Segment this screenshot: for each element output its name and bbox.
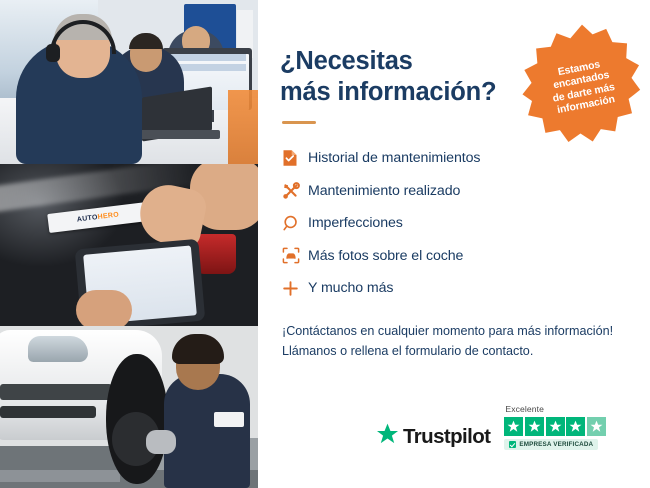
- title-underline-rule: [282, 121, 316, 124]
- feature-list: Historial de mantenimientos Mantenimient…: [282, 142, 626, 305]
- list-item-label: Historial de mantenimientos: [308, 150, 480, 166]
- document-check-icon: [282, 149, 308, 167]
- plus-icon: [282, 280, 308, 297]
- verified-check-icon: [509, 441, 516, 448]
- mechanic-glove: [146, 430, 176, 454]
- star-icon-partial: [587, 417, 606, 436]
- headline-line-1: ¿Necesitas: [280, 47, 413, 75]
- badge-text: Estamos encantados de darte más informac…: [527, 53, 638, 121]
- orange-equipment: [228, 90, 258, 164]
- verified-label: EMPRESA VERIFICADA: [519, 441, 593, 448]
- screen-content-bar: [168, 54, 246, 61]
- list-item-label: Y mucho más: [308, 280, 393, 296]
- mechanic-uniform-logo: [214, 412, 244, 427]
- photo-inspection-ruler-on-car: AUTOHERO: [0, 164, 258, 326]
- laptop-keyboard: [134, 130, 220, 139]
- trustpilot-wordmark: Trustpilot: [403, 425, 490, 449]
- headline-line-2: más información?: [280, 78, 496, 106]
- tools-wrench-screwdriver-icon: [282, 182, 308, 200]
- car-grille-lower: [0, 406, 96, 418]
- inspector-hand-holding-tablet: [76, 290, 132, 326]
- photo-mechanic-inspecting-wheel: [0, 326, 258, 488]
- trustpilot-star-icon: [376, 423, 399, 450]
- car-headlight: [28, 336, 88, 362]
- mechanic-torso: [164, 374, 250, 488]
- list-item-label: Más fotos sobre el coche: [308, 248, 463, 264]
- car-lift-arm: [0, 470, 120, 482]
- list-item: Imperfecciones: [282, 207, 626, 240]
- list-item-label: Imperfecciones: [308, 215, 403, 231]
- verified-business-badge: EMPRESA VERIFICADA: [504, 439, 598, 450]
- list-item: Mantenimiento realizado: [282, 175, 626, 208]
- contact-line-1: ¡Contáctanos en cualquier momento para m…: [282, 324, 613, 338]
- trustpilot-logo[interactable]: Trustpilot: [376, 423, 490, 450]
- list-item: Más fotos sobre el coche: [282, 240, 626, 273]
- content-panel: ¿Necesitas más información? Historial de…: [258, 0, 650, 488]
- trustpilot-rating[interactable]: Trustpilot Excelente: [376, 404, 606, 450]
- car-scan-icon: [282, 247, 308, 264]
- photo-collage: AUTOHERO: [0, 0, 258, 488]
- agent-headset-earcup: [46, 44, 60, 62]
- contact-line-2: Llámanos o rellena el formulario de cont…: [282, 344, 533, 358]
- contact-note: ¡Contáctanos en cualquier momento para m…: [282, 321, 626, 362]
- list-item-label: Mantenimiento realizado: [308, 183, 460, 199]
- list-item: Y mucho más: [282, 272, 626, 305]
- star-rating: [504, 417, 605, 436]
- star-icon-filled: [504, 417, 523, 436]
- photo-call-center-agent-with-headset: [0, 0, 258, 164]
- ruler-brand-text: AUTOHERO: [77, 211, 120, 223]
- status-badge: Estamos encantados de darte más informac…: [520, 22, 644, 146]
- rating-label: Excelente: [505, 404, 544, 414]
- trustpilot-score-block: Excelente: [504, 404, 605, 450]
- star-icon-filled: [525, 417, 544, 436]
- star-icon-filled: [566, 417, 585, 436]
- magnifier-icon: [282, 215, 308, 232]
- star-icon-filled: [546, 417, 565, 436]
- badge-content: Estamos encantados de darte más informac…: [509, 11, 650, 156]
- autohero-contact-banner: AUTOHERO ¿Ne: [0, 0, 650, 488]
- car-grille-upper: [0, 384, 112, 400]
